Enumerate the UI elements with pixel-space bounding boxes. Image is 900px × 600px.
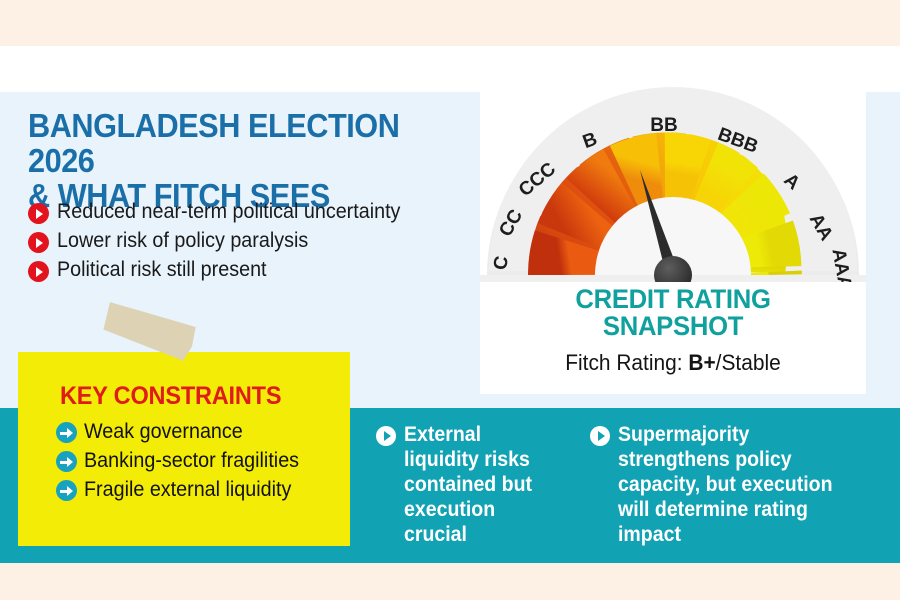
arrow-circle-icon [28,232,49,253]
list-item: Supermajority strengthens policy capacit… [590,422,876,547]
perforation-notch [18,406,32,417]
rating-grade: B+ [688,350,715,375]
list-item: Weak governance [56,419,356,444]
credit-rating-card: C CC CCC B BB BBB A AA AAA CREDIT RATING… [480,58,866,394]
infographic-canvas: BANGLADESH ELECTION 2026 & WHAT FITCH SE… [0,0,900,600]
gauge-chart: C CC CCC B BB BBB A AA AAA [480,58,866,282]
arrow-circle-icon [28,261,49,282]
gauge-svg: C CC CCC B BB BBB A AA AAA [480,58,866,282]
arrow-right-circle-icon [56,480,77,501]
arrow-right-circle-icon [56,422,77,443]
list-item-label: Lower risk of policy paralysis [57,229,308,253]
list-item-label: External liquidity risks contained but e… [404,422,560,547]
perforation-notch [18,526,32,537]
key-constraints-heading: KEY CONSTRAINTS [60,382,281,411]
page-title: BANGLADESH ELECTION 2026 & WHAT FITCH SE… [28,108,456,213]
perforation-notch [18,430,32,441]
arrow-circle-icon [376,426,396,446]
gauge-label-BB: BB [650,115,677,136]
findings-list: Reduced near-term political uncertainty … [28,200,488,287]
card-title-line1: CREDIT RATING [490,286,857,313]
perforation-notch [18,454,32,465]
arrow-circle-icon [590,426,610,446]
outlook-list: External liquidity risks contained but e… [376,422,876,547]
list-item-label: Supermajority strengthens policy capacit… [618,422,858,547]
list-item-label: Reduced near-term political uncertainty [57,200,400,224]
list-item-label: Weak governance [84,419,243,444]
list-item: Lower risk of policy paralysis [28,229,488,253]
perforation-notch [18,478,32,489]
card-title-line2: SNAPSHOT [490,313,857,340]
perforation-notch [18,382,32,393]
arrow-right-circle-icon [56,451,77,472]
fitch-rating-value: Fitch Rating: B+/Stable [490,350,857,376]
key-constraints-card: KEY CONSTRAINTS Weak governance Banking-… [18,352,350,546]
list-item: Reduced near-term political uncertainty [28,200,488,224]
list-item: Fragile external liquidity [56,477,356,502]
list-item-label: Banking-sector fragilities [84,448,299,473]
list-item-label: Fragile external liquidity [84,477,291,502]
list-item: Political risk still present [28,258,488,282]
page-title-line1: BANGLADESH ELECTION 2026 [28,107,399,179]
rating-prefix: Fitch Rating: [565,350,688,375]
background-band-cream-bottom [0,563,900,600]
perforation-notch [18,358,32,369]
perforation-notch [18,502,32,513]
key-constraints-list: Weak governance Banking-sector fragiliti… [56,419,356,506]
background-band-cream-top [0,0,900,46]
list-item: External liquidity risks contained but e… [376,422,572,547]
list-item: Banking-sector fragilities [56,448,356,473]
arrow-circle-icon [28,203,49,224]
list-item-label: Political risk still present [57,258,267,282]
rating-suffix: /Stable [716,350,781,375]
card-title: CREDIT RATING SNAPSHOT [490,286,857,340]
